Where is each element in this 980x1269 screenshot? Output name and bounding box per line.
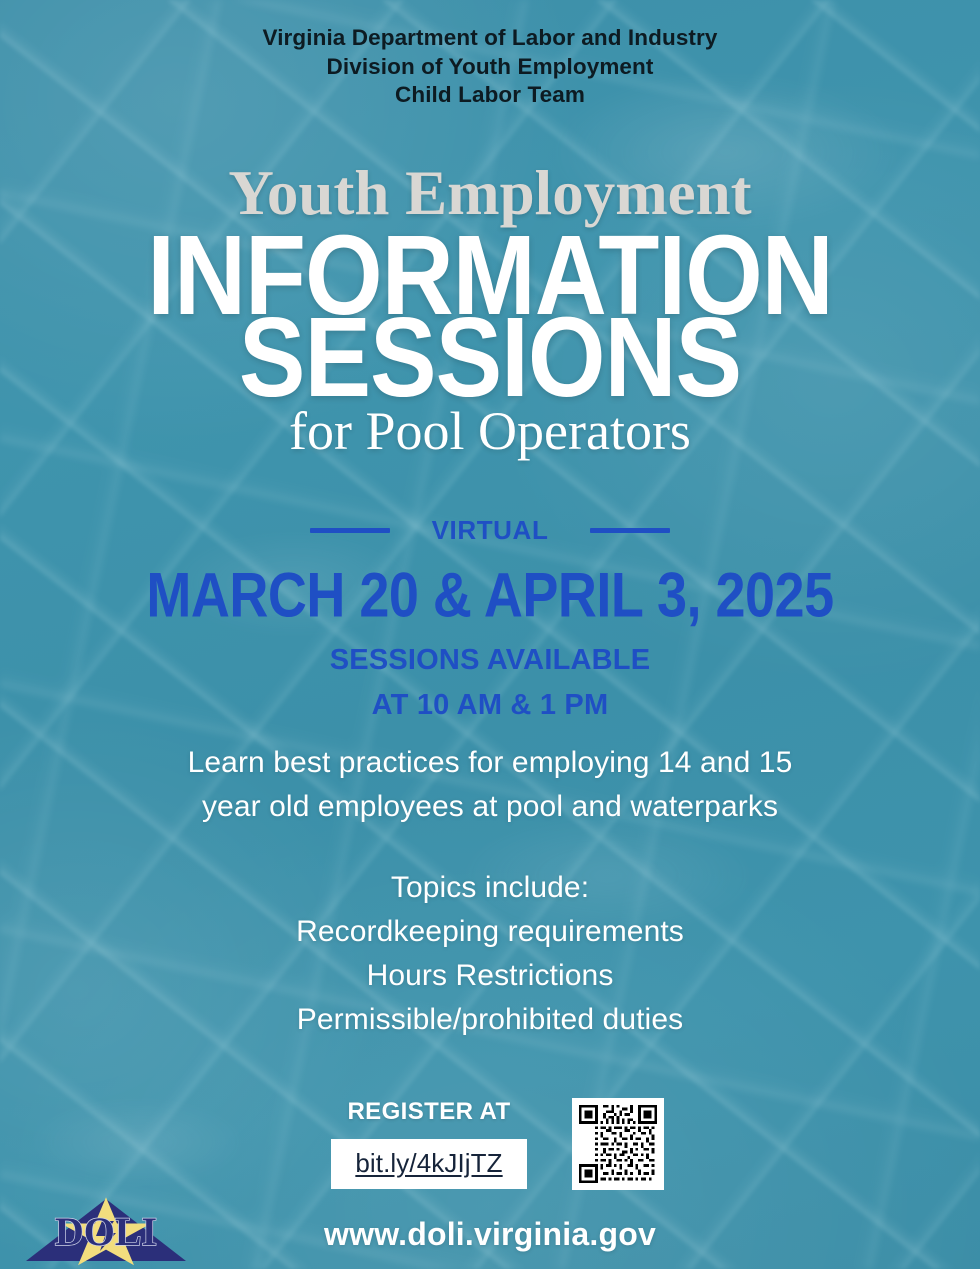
format-label: VIRTUAL bbox=[432, 515, 549, 546]
virtual-row: VIRTUAL bbox=[0, 515, 980, 546]
registration-link[interactable]: bit.ly/4kJIjTZ bbox=[331, 1139, 527, 1189]
event-dates: MARCH 20 & APRIL 3, 2025 bbox=[0, 563, 980, 629]
agency-line-1: Virginia Department of Labor and Industr… bbox=[0, 24, 980, 53]
event-sessions: SESSIONS AVAILABLE AT 10 AM & 1 PM bbox=[0, 638, 980, 728]
registration-column: REGISTER AT bit.ly/4kJIjTZ bbox=[316, 1098, 542, 1189]
divider-rule-right bbox=[590, 528, 670, 533]
qr-code[interactable] bbox=[572, 1098, 664, 1190]
agency-header: Virginia Department of Labor and Industr… bbox=[0, 24, 980, 110]
lead-line-2: year old employees at pool and waterpark… bbox=[0, 785, 980, 829]
topic-item: Hours Restrictions bbox=[0, 954, 980, 998]
agency-line-3: Child Labor Team bbox=[0, 81, 980, 110]
topic-item: Recordkeeping requirements bbox=[0, 910, 980, 954]
poster-content: Virginia Department of Labor and Industr… bbox=[0, 0, 980, 1269]
lead-line-1: Learn best practices for employing 14 an… bbox=[0, 741, 980, 785]
qr-code-icon bbox=[579, 1105, 657, 1183]
register-label: REGISTER AT bbox=[347, 1098, 510, 1126]
topics-heading: Topics include: bbox=[0, 866, 980, 910]
registration-block: REGISTER AT bit.ly/4kJIjTZ bbox=[0, 1098, 980, 1190]
topics-block: Topics include: Recordkeeping requiremen… bbox=[0, 866, 980, 1042]
poster: Virginia Department of Labor and Industr… bbox=[0, 0, 980, 1269]
title-line-sessions: SESSIONS bbox=[0, 304, 980, 412]
divider-rule-left bbox=[310, 528, 390, 533]
sessions-line-1: SESSIONS AVAILABLE bbox=[0, 638, 980, 683]
registration-link-text: bit.ly/4kJIjTZ bbox=[355, 1148, 502, 1178]
website-url: www.doli.virginia.gov bbox=[0, 1216, 980, 1253]
sessions-line-2: AT 10 AM & 1 PM bbox=[0, 683, 980, 728]
topic-item: Permissible/prohibited duties bbox=[0, 998, 980, 1042]
agency-line-2: Division of Youth Employment bbox=[0, 53, 980, 82]
lead-paragraph: Learn best practices for employing 14 an… bbox=[0, 741, 980, 830]
title-subtitle: for Pool Operators bbox=[0, 404, 980, 458]
